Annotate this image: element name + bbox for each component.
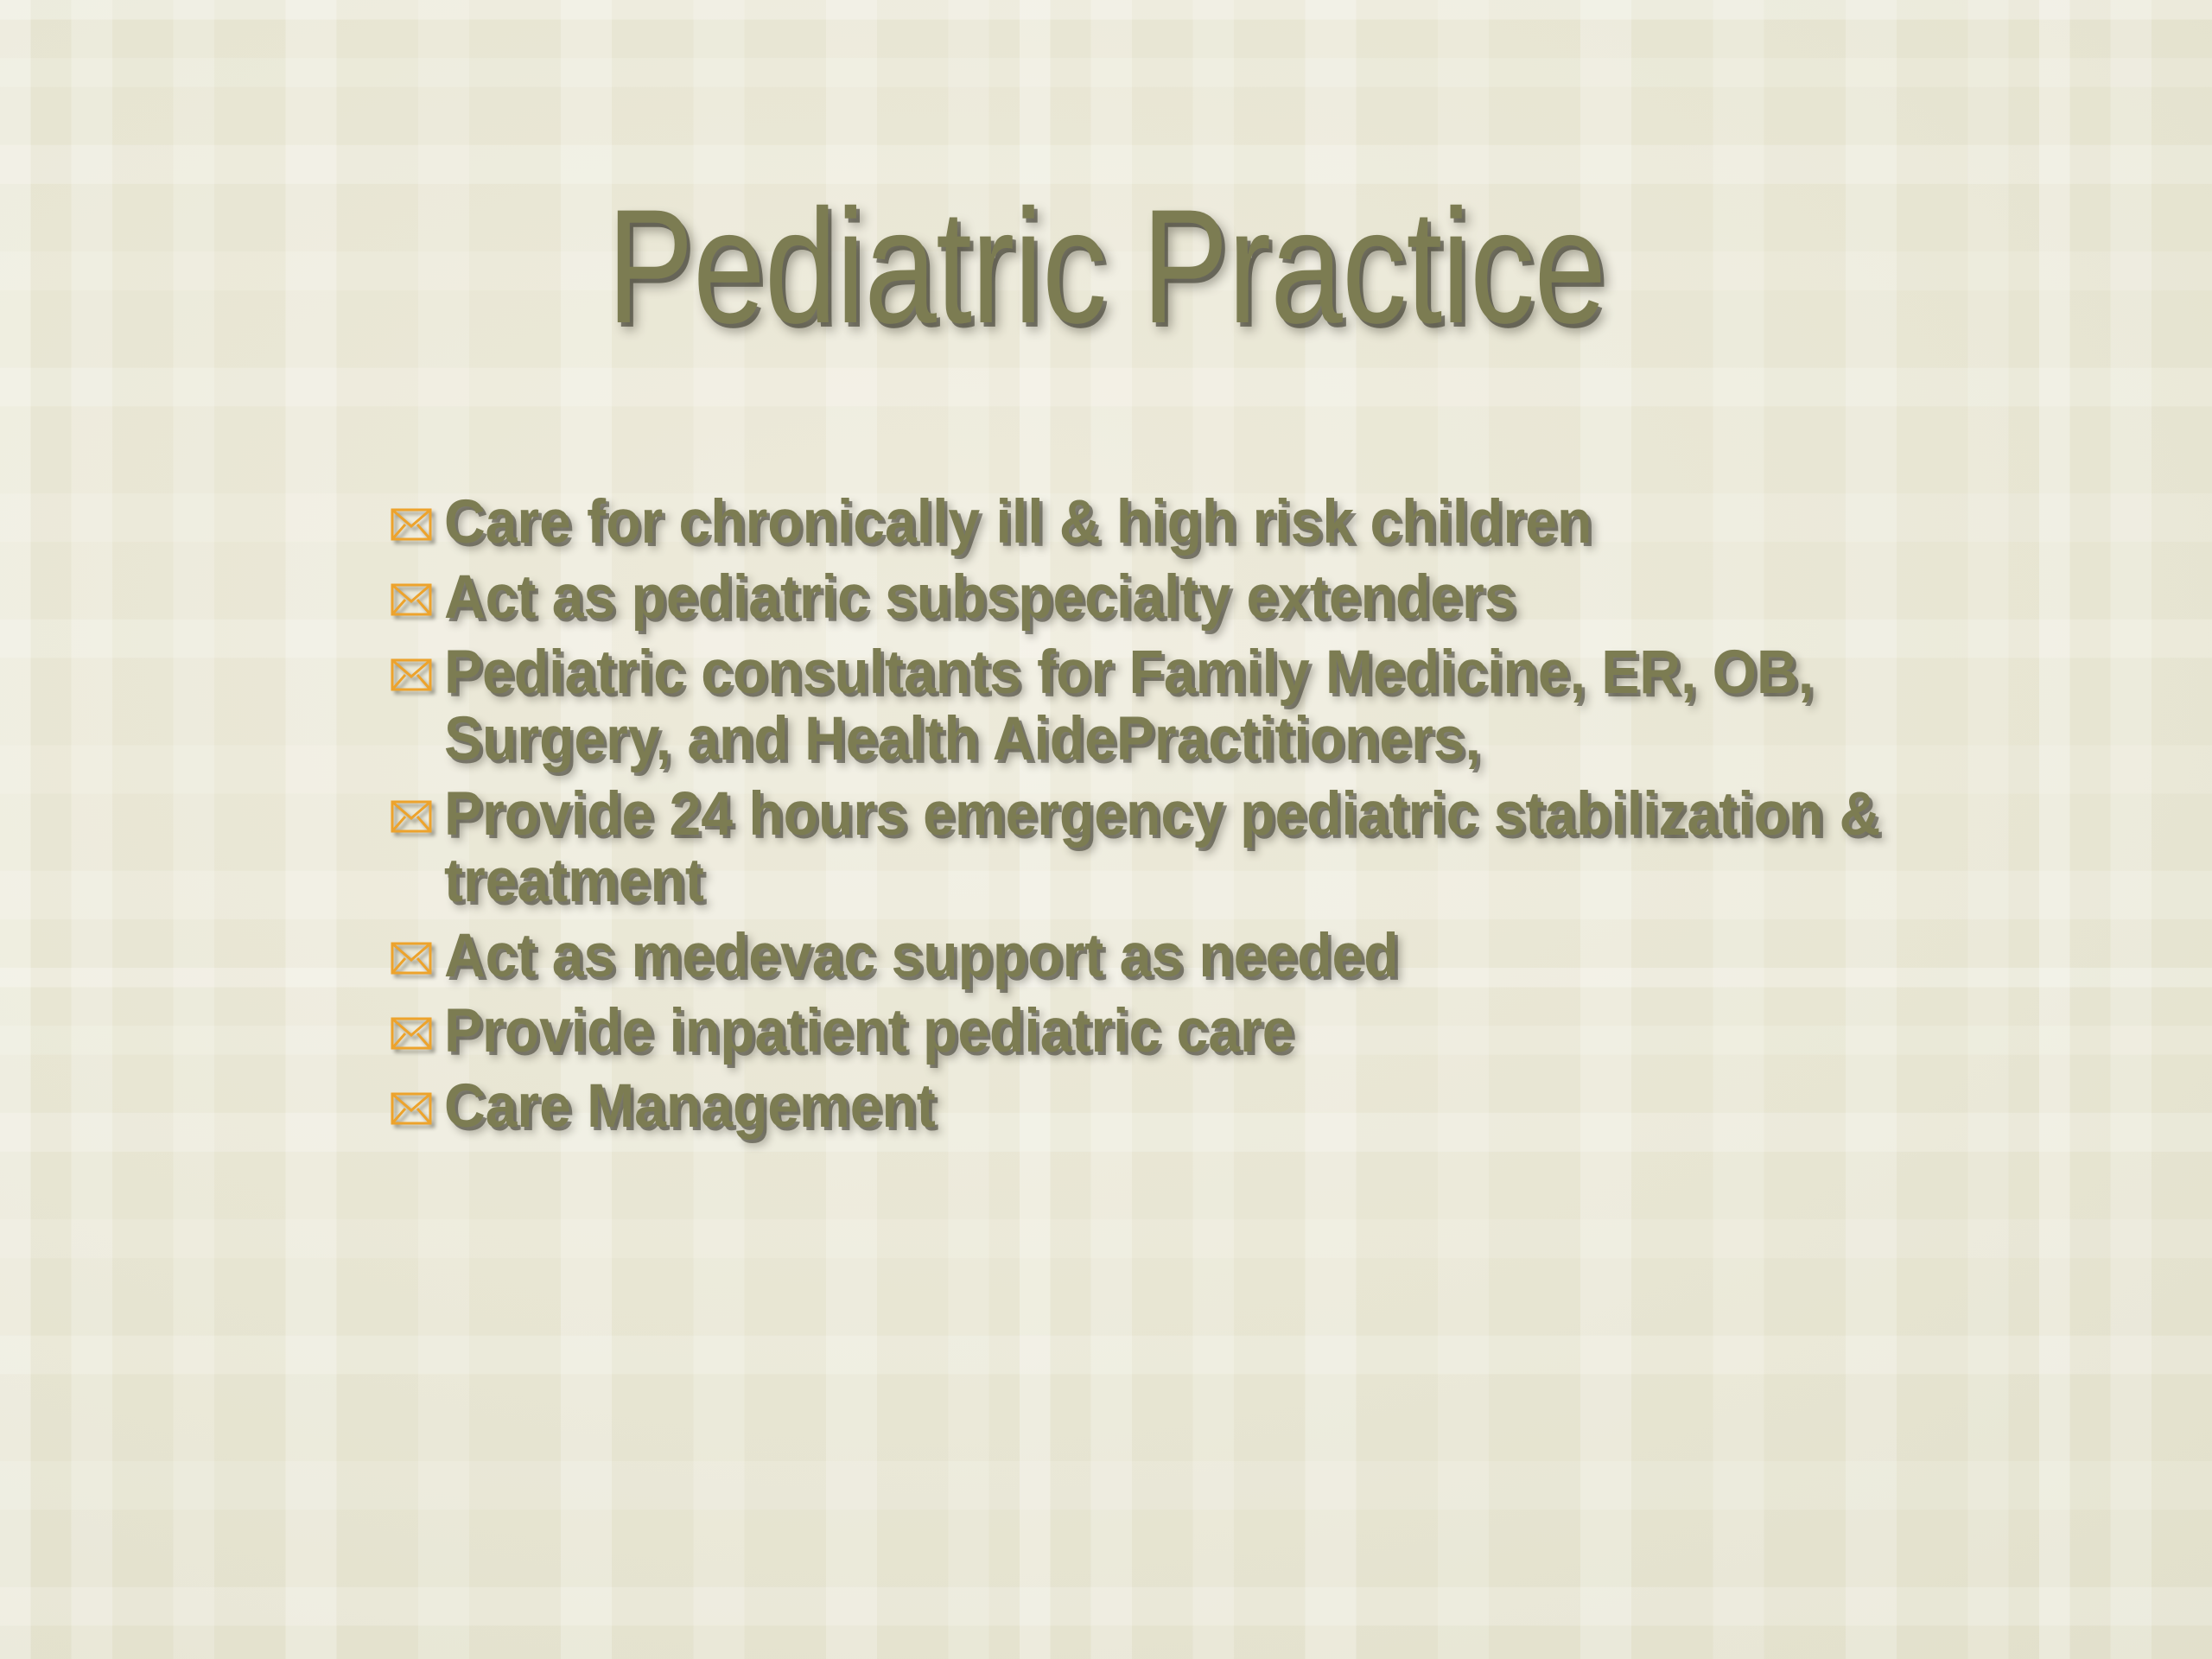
list-item-label: Provide 24 hours emergency pediatric sta…: [444, 781, 1969, 914]
list-item-label: Act as medevac support as needed: [444, 923, 1969, 989]
envelope-icon: [391, 800, 432, 833]
list-item-label: Care Management: [444, 1073, 1969, 1140]
list-item[interactable]: Act as pediatric subspecialty extenders: [391, 564, 2084, 631]
presentation-slide: Pediatric Practice Care for chronically …: [0, 0, 2212, 1659]
envelope-icon: [391, 1092, 432, 1125]
envelope-icon: [391, 942, 432, 975]
list-item-label: Act as pediatric subspecialty extenders: [444, 564, 1969, 631]
list-item[interactable]: Pediatric consultants for Family Medicin…: [391, 639, 2084, 772]
envelope-icon: [391, 583, 432, 616]
list-item[interactable]: Care for chronically ill & high risk chi…: [391, 489, 2084, 556]
bullet-list: Care for chronically ill & high risk chi…: [391, 489, 2084, 1148]
list-item-label: Provide inpatient pediatric care: [444, 998, 1969, 1065]
list-item-label: Pediatric consultants for Family Medicin…: [444, 639, 1969, 772]
envelope-icon: [391, 508, 432, 541]
list-item[interactable]: Provide inpatient pediatric care: [391, 998, 2084, 1065]
list-item[interactable]: Care Management: [391, 1073, 2084, 1140]
slide-title-block: Pediatric Practice: [0, 185, 2212, 347]
list-item[interactable]: Act as medevac support as needed: [391, 923, 2084, 989]
envelope-icon: [391, 1017, 432, 1050]
page-title: Pediatric Practice: [607, 185, 1605, 347]
list-item-label: Care for chronically ill & high risk chi…: [444, 489, 1969, 556]
list-item[interactable]: Provide 24 hours emergency pediatric sta…: [391, 781, 2084, 914]
envelope-icon: [391, 658, 432, 691]
